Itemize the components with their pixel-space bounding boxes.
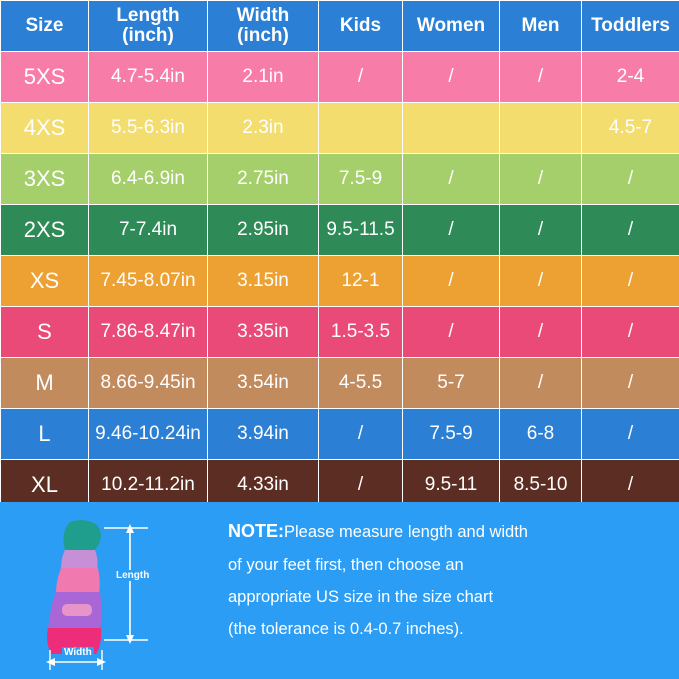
note-line-2: of your feet first, then choose an [228, 549, 668, 581]
swim-fin-illustration: Length Width [18, 512, 218, 672]
table-cell: 5-7 [403, 358, 500, 409]
size-chart-table: Size Length (inch) Width (inch) Kids Wom… [0, 0, 679, 511]
table-cell: 6.4-6.9in [89, 154, 208, 205]
size-label-cell: 2XS [1, 205, 89, 256]
table-cell: / [500, 307, 582, 358]
table-cell: 2.75in [208, 154, 319, 205]
fin-icon [18, 512, 218, 672]
table-cell: / [500, 256, 582, 307]
table-body: 5XS4.7-5.4in2.1in///2-44XS5.5-6.3in2.3in… [1, 52, 679, 511]
header-main: Length [116, 5, 179, 26]
table-cell: / [582, 256, 679, 307]
note-line-1-text: Please measure length and width [284, 523, 528, 541]
column-header-width: Width (inch) [208, 1, 319, 52]
column-header-size: Size [1, 1, 89, 52]
table-cell: 9.5-11.5 [319, 205, 403, 256]
column-header-men: Men [500, 1, 582, 52]
note-line-1: NOTE:Please measure length and width [228, 514, 668, 549]
size-label-cell: 5XS [1, 52, 89, 103]
header-main: Size [25, 15, 63, 36]
table-cell: / [500, 358, 582, 409]
table-cell: / [500, 154, 582, 205]
table-cell: / [403, 52, 500, 103]
header-row: Size Length (inch) Width (inch) Kids Wom… [1, 1, 679, 52]
note-text: NOTE:Please measure length and width of … [228, 514, 668, 646]
table-row: S7.86-8.47in3.35in1.5-3.5/// [1, 307, 679, 358]
width-dimension-label: Width [62, 647, 94, 658]
header-main: Women [417, 15, 485, 36]
table-row: 3XS6.4-6.9in2.75in7.5-9/// [1, 154, 679, 205]
table-cell: / [319, 409, 403, 460]
table-row: 2XS7-7.4in2.95in9.5-11.5/// [1, 205, 679, 256]
size-label-cell: S [1, 307, 89, 358]
table-cell: 4-5.5 [319, 358, 403, 409]
table-cell: / [582, 154, 679, 205]
header-main: Width [237, 5, 290, 26]
table-cell: 7-7.4in [89, 205, 208, 256]
table-cell: / [582, 358, 679, 409]
table-cell: 1.5-3.5 [319, 307, 403, 358]
column-header-women: Women [403, 1, 500, 52]
note-panel: Length Width NOTE:Please measure length … [0, 502, 679, 679]
size-chart-sheet: Size Length (inch) Width (inch) Kids Wom… [0, 0, 679, 679]
table-cell: 2.1in [208, 52, 319, 103]
size-label-cell: 4XS [1, 103, 89, 154]
table-cell: 3.35in [208, 307, 319, 358]
table-cell: 2.3in [208, 103, 319, 154]
table-cell: 7.5-9 [403, 409, 500, 460]
table-row: M8.66-9.45in3.54in4-5.55-7// [1, 358, 679, 409]
size-label-cell: M [1, 358, 89, 409]
table-cell: / [582, 307, 679, 358]
table-cell: 3.15in [208, 256, 319, 307]
size-label-cell: L [1, 409, 89, 460]
length-dimension-label: Length [114, 570, 151, 581]
table-cell: / [582, 409, 679, 460]
table-cell: / [403, 154, 500, 205]
header-sub: (inch) [89, 26, 207, 46]
column-header-kids: Kids [319, 1, 403, 52]
table-cell: 7.5-9 [319, 154, 403, 205]
table-cell: 3.54in [208, 358, 319, 409]
table-cell: 3.94in [208, 409, 319, 460]
table-cell: 4.7-5.4in [89, 52, 208, 103]
note-line-3: appropriate US size in the size chart [228, 581, 668, 613]
table-cell: / [582, 205, 679, 256]
column-header-toddlers: Toddlers [582, 1, 679, 52]
table-cell: / [403, 256, 500, 307]
table-cell: / [319, 52, 403, 103]
table-cell: 4.5-7 [582, 103, 679, 154]
table-header: Size Length (inch) Width (inch) Kids Wom… [1, 1, 679, 52]
table-cell: 6-8 [500, 409, 582, 460]
header-main: Kids [340, 15, 381, 36]
table-cell: 8.66-9.45in [89, 358, 208, 409]
table-row: 5XS4.7-5.4in2.1in///2-4 [1, 52, 679, 103]
size-label-cell: XS [1, 256, 89, 307]
table-row: L9.46-10.24in3.94in/7.5-96-8/ [1, 409, 679, 460]
table-cell: 2.95in [208, 205, 319, 256]
table-cell: 9.46-10.24in [89, 409, 208, 460]
note-label: NOTE: [228, 521, 284, 541]
table-cell: / [403, 205, 500, 256]
table-cell [500, 103, 582, 154]
table-cell: 2-4 [582, 52, 679, 103]
size-label-cell: 3XS [1, 154, 89, 205]
table-cell [319, 103, 403, 154]
header-sub: (inch) [208, 26, 318, 46]
table-cell: 7.45-8.07in [89, 256, 208, 307]
table-cell: / [403, 307, 500, 358]
header-main: Men [522, 15, 560, 36]
column-header-length: Length (inch) [89, 1, 208, 52]
table-cell: 7.86-8.47in [89, 307, 208, 358]
table-cell: 5.5-6.3in [89, 103, 208, 154]
table-cell: / [500, 205, 582, 256]
note-line-4: (the tolerance is 0.4-0.7 inches). [228, 613, 668, 645]
table-cell [403, 103, 500, 154]
table-cell: 12-1 [319, 256, 403, 307]
table-cell: / [500, 52, 582, 103]
table-row: 4XS5.5-6.3in2.3in4.5-7 [1, 103, 679, 154]
table-row: XS7.45-8.07in3.15in12-1/// [1, 256, 679, 307]
header-main: Toddlers [591, 15, 670, 36]
